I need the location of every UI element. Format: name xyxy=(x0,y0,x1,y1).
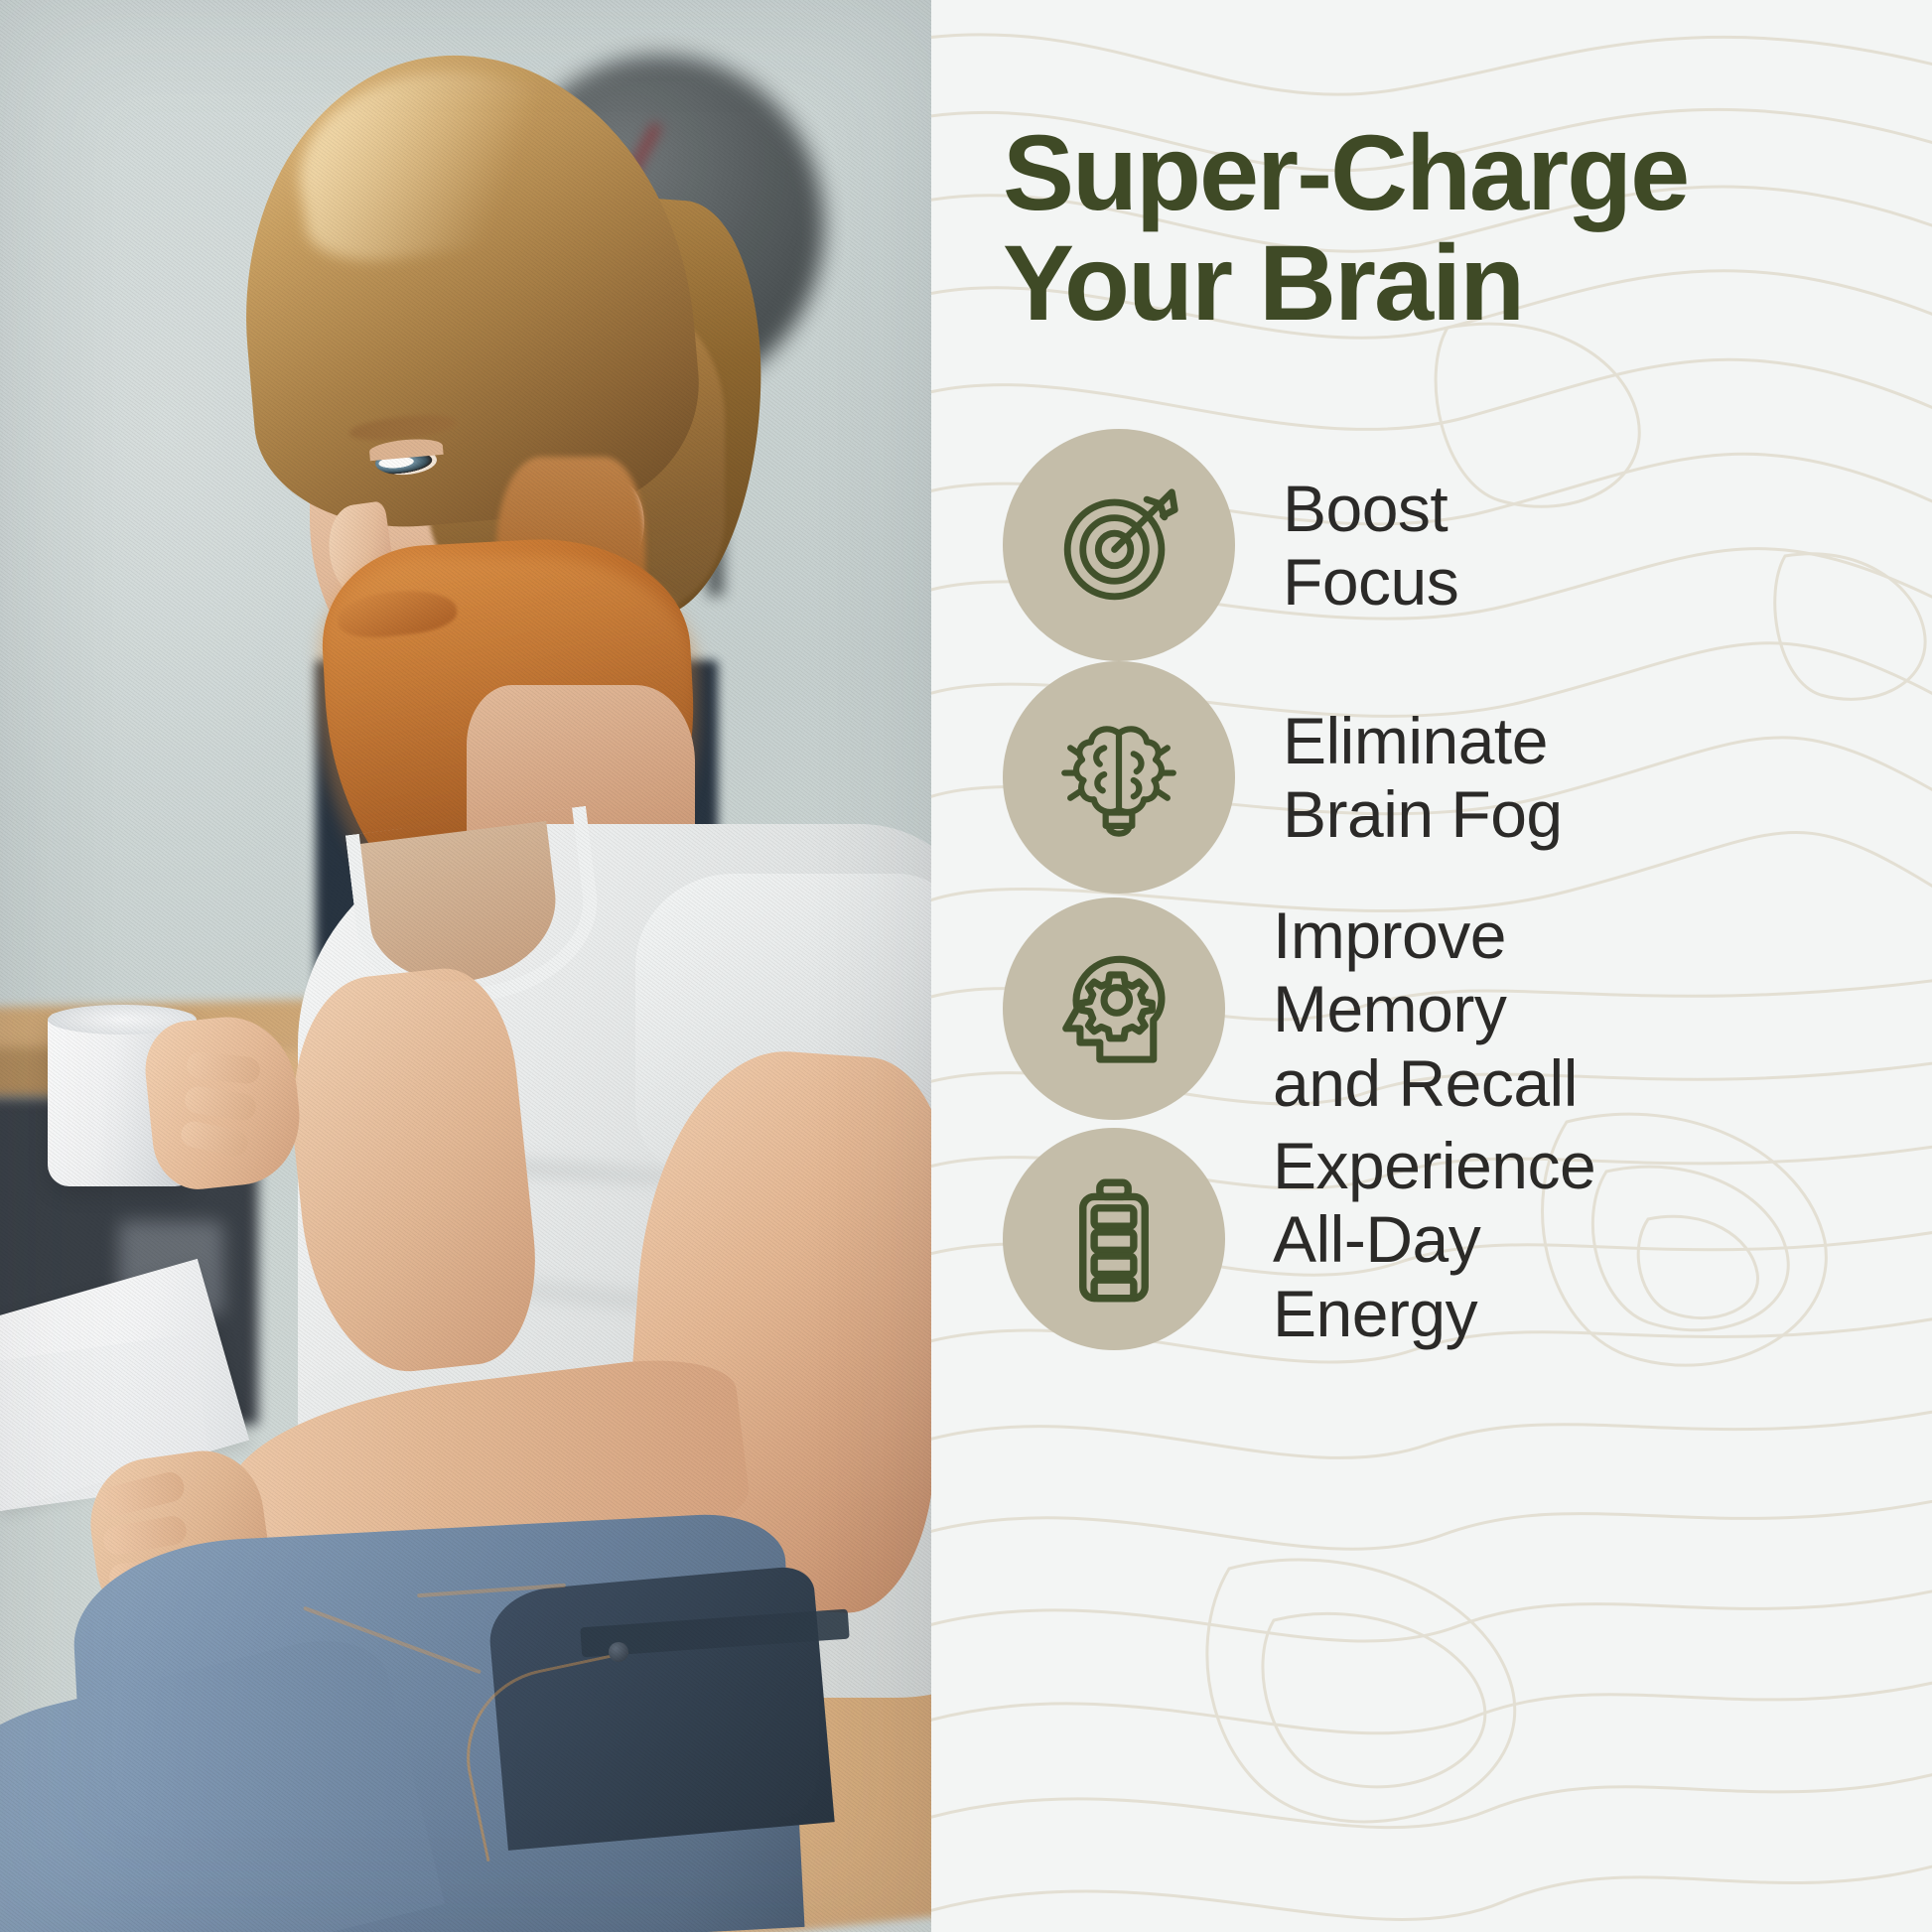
benefit-icon-badge xyxy=(1003,661,1235,894)
head-gear-icon xyxy=(1043,938,1184,1079)
page-title: Super-Charge Your Brain xyxy=(1003,117,1876,338)
benefit-item-all-day-energy[interactable]: Experience All-Day Energy xyxy=(1003,1124,1876,1354)
benefit-item-boost-focus[interactable]: Boost Focus xyxy=(1003,429,1876,661)
promo-poster: Super-Charge Your Brain B xyxy=(0,0,1932,1932)
benefit-item-eliminate-brain-fog[interactable]: Eliminate Brain Fog xyxy=(1003,661,1876,894)
benefit-icon-badge xyxy=(1003,1128,1225,1350)
battery-full-icon xyxy=(1043,1169,1184,1310)
benefit-icon-badge xyxy=(1003,897,1225,1120)
benefit-label: Eliminate Brain Fog xyxy=(1283,704,1563,852)
benefit-label: Boost Focus xyxy=(1283,472,1458,620)
benefit-label: Improve Memory and Recall xyxy=(1273,898,1578,1121)
content-panel: Super-Charge Your Brain B xyxy=(931,0,1932,1932)
benefit-item-improve-memory[interactable]: Improve Memory and Recall xyxy=(1003,894,1876,1124)
benefit-label: Experience All-Day Energy xyxy=(1273,1129,1595,1351)
target-arrow-icon xyxy=(1045,472,1192,619)
hero-photo xyxy=(0,0,931,1932)
photo-vignette xyxy=(0,0,931,1932)
brain-lightbulb-icon xyxy=(1045,704,1192,851)
benefits-list: Boost Focus xyxy=(1003,429,1876,1354)
benefit-icon-badge xyxy=(1003,429,1235,661)
